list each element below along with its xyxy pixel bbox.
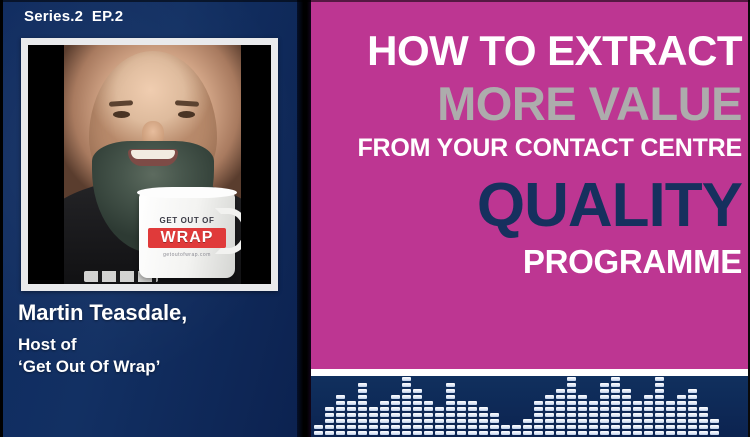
equalizer-segment [446,383,455,387]
equalizer-segment [567,401,576,405]
equalizer-segment [633,401,642,405]
equalizer-segment [369,431,378,435]
equalizer-bar [501,425,510,435]
equalizer-segment [413,407,422,411]
equalizer-bar [710,419,719,435]
equalizer-segment [468,419,477,423]
equalizer-segment [501,431,510,435]
equalizer-segment [380,419,389,423]
equalizer-segment [479,419,488,423]
mug-text-url: getoutofwrap.com [139,252,235,258]
equalizer-segment [402,407,411,411]
equalizer-segment [391,395,400,399]
equalizer-bar [435,407,444,435]
equalizer-segment [600,425,609,429]
equalizer-bar [622,389,631,435]
equalizer-segment [402,431,411,435]
equalizer-segment [655,425,664,429]
equalizer-segment [611,419,620,423]
equalizer-bar [424,401,433,435]
equalizer-segment [358,395,367,399]
equalizer-segment [347,425,356,429]
equalizer-segment [490,413,499,417]
equalizer-segment [534,407,543,411]
equalizer-bar [457,401,466,435]
equalizer-segment [380,413,389,417]
equalizer-segment [578,431,587,435]
equalizer-segment [468,407,477,411]
equalizer-segment [567,377,576,381]
episode-headline: HOW TO EXTRACT MORE VALUE FROM YOUR CONT… [311,0,742,278]
equalizer-segment [413,431,422,435]
equalizer-segment [600,413,609,417]
equalizer-segment [325,413,334,417]
equalizer-segment [578,401,587,405]
equalizer-segment [446,413,455,417]
equalizer-segment [545,413,554,417]
equalizer-segment [391,425,400,429]
equalizer-segment [644,395,653,399]
equalizer-segment [325,419,334,423]
equalizer-segment [314,425,323,429]
equalizer-segment [622,407,631,411]
equalizer-bar [666,401,675,435]
equalizer-segment [314,431,323,435]
equalizer-segment [622,413,631,417]
equalizer-segment [413,395,422,399]
equalizer-bar [325,407,334,435]
equalizer-segment [358,425,367,429]
equalizer-segment [534,401,543,405]
equalizer-segment [666,401,675,405]
right-pink-panel: HOW TO EXTRACT MORE VALUE FROM YOUR CONT… [311,0,750,369]
equalizer-segment [336,395,345,399]
equalizer-segment [611,395,620,399]
guest-teeth [131,150,175,159]
equalizer-segment [347,419,356,423]
equalizer-bar [314,425,323,435]
equalizer-segment [644,413,653,417]
equalizer-segment [391,431,400,435]
equalizer-segment [336,413,345,417]
equalizer-bar [523,419,532,435]
equalizer-segment [556,431,565,435]
equalizer-segment [567,389,576,393]
equalizer-segment [556,389,565,393]
guest-role: Host of [18,334,288,356]
mug-rim [137,187,237,198]
equalizer-segment [380,401,389,405]
equalizer-segment [435,431,444,435]
equalizer-segment [699,407,708,411]
equalizer-segment [655,431,664,435]
equalizer-segment [655,413,664,417]
equalizer-segment [347,401,356,405]
equalizer-segment [556,401,565,405]
equalizer-segment [545,401,554,405]
equalizer-segment [666,425,675,429]
equalizer-bar [336,395,345,435]
equalizer-bar [347,401,356,435]
guest-eyebrow-left [108,100,132,107]
equalizer-segment [413,413,422,417]
equalizer-segment [611,431,620,435]
headline-line-5: PROGRAMME [311,245,742,278]
equalizer-bar [600,383,609,435]
equalizer-segment [402,383,411,387]
guest-caption: Martin Teasdale, Host of ‘Get Out Of Wra… [18,300,288,378]
equalizer-segment [358,383,367,387]
headline-line-2: MORE VALUE [311,80,742,127]
equalizer-segment [325,431,334,435]
equalizer-segment [358,431,367,435]
equalizer-segment [336,431,345,435]
equalizer-segment [424,401,433,405]
equalizer-segment [666,413,675,417]
equalizer-segment [545,419,554,423]
guest-photo-frame: GET OUT OF WRAP getoutofwrap.com [21,38,278,291]
equalizer-segment [457,401,466,405]
equalizer-segment [402,413,411,417]
equalizer-segment [523,419,532,423]
equalizer-segment [490,425,499,429]
equalizer-segment [688,401,697,405]
equalizer-bar [479,407,488,435]
equalizer-segment [380,407,389,411]
equalizer-segment [325,407,334,411]
equalizer-segment [677,413,686,417]
equalizer-segment [501,425,510,429]
equalizer-segment [545,425,554,429]
equalizer-segment [479,431,488,435]
equalizer-segment [545,395,554,399]
equalizer-bar [677,395,686,435]
equalizer-bar [633,401,642,435]
equalizer-segment [600,389,609,393]
equalizer-segment [424,413,433,417]
equalizer-segment [402,419,411,423]
equalizer-segment [699,419,708,423]
equalizer-segment [644,431,653,435]
guest-photo-scene: GET OUT OF WRAP getoutofwrap.com [64,45,241,284]
equalizer-bar [589,401,598,435]
equalizer-segment [655,401,664,405]
equalizer-segment [688,389,697,393]
equalizer-bar [699,407,708,435]
equalizer-segment [413,401,422,405]
equalizer-segment [578,425,587,429]
equalizer-bar [688,389,697,435]
equalizer-bar [391,395,400,435]
equalizer-segment [446,425,455,429]
equalizer-segment [556,413,565,417]
equalizer-bar [545,395,554,435]
equalizer-segment [600,419,609,423]
equalizer-segment [644,401,653,405]
equalizer-segment [567,395,576,399]
equalizer-segment [567,425,576,429]
equalizer-segment [600,407,609,411]
equalizer-segment [611,425,620,429]
equalizer-segment [402,425,411,429]
equalizer-segment [556,395,565,399]
equalizer-segment [644,419,653,423]
equalizer-bar [413,389,422,435]
equalizer-segment [369,419,378,423]
equalizer-segment [688,395,697,399]
equalizer-segment [347,407,356,411]
left-navy-panel: Series.2 EP.2 [0,0,297,437]
equalizer-segment [512,431,521,435]
equalizer-segment [633,419,642,423]
equalizer-segment [622,389,631,393]
podcast-episode-poster: Series.2 EP.2 [0,0,750,437]
equalizer-segment [358,401,367,405]
equalizer-segment [545,431,554,435]
equalizer-segment [578,407,587,411]
equalizer-segment [655,407,664,411]
equalizer-segment [589,431,598,435]
equalizer-segment [336,425,345,429]
equalizer-segment [578,413,587,417]
equalizer-segment [677,395,686,399]
equalizer-segment [688,407,697,411]
equalizer-segment [556,425,565,429]
equalizer-segment [633,413,642,417]
equalizer-segment [413,419,422,423]
equalizer-segment [589,425,598,429]
equalizer-segment [710,425,719,429]
equalizer-segment [589,407,598,411]
guest-eyebrow-right [174,100,198,107]
equalizer-segment [534,413,543,417]
equalizer-segment [402,395,411,399]
equalizer-segment [688,413,697,417]
equalizer-segment [600,395,609,399]
equalizer-segment [435,407,444,411]
equalizer-bar [402,376,411,435]
equalizer-segment [358,407,367,411]
equalizer-segment [424,419,433,423]
equalizer-segment [512,425,521,429]
headline-line-3: FROM YOUR CONTACT CENTRE [311,136,742,161]
equalizer-segment [358,413,367,417]
equalizer-segment [578,395,587,399]
equalizer-bar [655,377,664,435]
guest-photo: GET OUT OF WRAP getoutofwrap.com [28,45,271,284]
equalizer-segment [567,431,576,435]
equalizer-segment [534,431,543,435]
equalizer-segment [600,431,609,435]
equalizer-segment [523,431,532,435]
headline-line-1: HOW TO EXTRACT [311,30,742,72]
equalizer-segment [666,431,675,435]
equalizer-segment [369,413,378,417]
equalizer-segment [402,377,411,381]
equalizer-segment [336,419,345,423]
equalizer-segment [391,407,400,411]
equalizer-segment [567,383,576,387]
equalizer-segment [534,419,543,423]
equalizer-segment [644,407,653,411]
equalizer-bar [567,377,576,435]
equalizer-segment [611,407,620,411]
equalizer-bar [380,401,389,435]
equalizer-segment [589,419,598,423]
equalizer-segment [413,425,422,429]
equalizer-segment [633,425,642,429]
equalizer-segment [358,389,367,393]
equalizer-segment [589,413,598,417]
equalizer-segment [556,419,565,423]
equalizer-segment [611,389,620,393]
equalizer-segment [523,425,532,429]
equalizer-bar [578,395,587,435]
equalizer-segment [446,419,455,423]
equalizer-segment [699,425,708,429]
equalizer-bar [468,401,477,435]
equalizer-segment [633,407,642,411]
audio-equalizer-panel [311,376,750,437]
equalizer-segment [622,425,631,429]
guest-mouth [128,149,178,166]
poster-edge-top [0,0,750,2]
equalizer-segment [424,407,433,411]
equalizer-segment [391,419,400,423]
equalizer-segment [600,383,609,387]
equalizer-segment [688,425,697,429]
equalizer-segment [468,401,477,405]
equalizer-segment [369,407,378,411]
equalizer-segment [710,431,719,435]
equalizer-segment [622,419,631,423]
equalizer-segment [380,425,389,429]
equalizer-segment [457,407,466,411]
equalizer-segment [622,395,631,399]
equalizer-segment [479,425,488,429]
equalizer-bar [369,407,378,435]
equalizer-segment [644,425,653,429]
equalizer-segment [446,407,455,411]
equalizer-segment [391,413,400,417]
equalizer-segment [655,395,664,399]
equalizer-segment [325,425,334,429]
equalizer-segment [446,395,455,399]
equalizer-segment [688,419,697,423]
equalizer-segment [666,407,675,411]
equalizer-segment [336,401,345,405]
equalizer-segment [490,419,499,423]
poster-edge-left [0,0,3,437]
equalizer-segment [611,413,620,417]
equalizer-segment [468,431,477,435]
equalizer-segment [457,425,466,429]
equalizer-segment [347,413,356,417]
equalizer-segment [677,401,686,405]
equalizer-bar [490,413,499,435]
equalizer-segment [677,431,686,435]
equalizer-segment [380,431,389,435]
equalizer-segment [666,419,675,423]
equalizer-segment [468,413,477,417]
branded-mug: GET OUT OF WRAP getoutofwrap.com [139,192,235,278]
equalizer-segment [490,431,499,435]
equalizer-segment [677,425,686,429]
equalizer-segment [622,401,631,405]
equalizer-segment [435,419,444,423]
equalizer-bar [446,383,455,435]
equalizer-segment [677,419,686,423]
equalizer-segment [556,407,565,411]
equalizer-segment [567,419,576,423]
equalizer-segment [655,419,664,423]
equalizer-segment [479,413,488,417]
panel-divider [297,0,311,437]
equalizer-segment [589,401,598,405]
equalizer-segment [424,425,433,429]
equalizer-segment [457,431,466,435]
equalizer-segment [710,419,719,423]
equalizer-segment [611,377,620,381]
equalizer-bar [556,389,565,435]
guest-show-title: ‘Get Out Of Wrap’ [18,356,288,378]
equalizer-bar [611,376,620,435]
equalizer-segment [347,431,356,435]
equalizer-segment [468,425,477,429]
equalizer-segment [358,419,367,423]
equalizer-bars [314,378,750,435]
mug-text-top: GET OUT OF [139,216,235,225]
equalizer-bar [644,395,653,435]
equalizer-segment [611,383,620,387]
equalizer-segment [622,431,631,435]
equalizer-segment [435,413,444,417]
equalizer-segment [391,401,400,405]
headline-line-4: QUALITY [311,175,742,237]
equalizer-segment [402,401,411,405]
white-separator-strip [311,369,750,376]
equalizer-segment [655,389,664,393]
equalizer-segment [633,431,642,435]
equalizer-segment [424,431,433,435]
equalizer-bar [512,425,521,435]
equalizer-segment [457,413,466,417]
equalizer-segment [446,401,455,405]
equalizer-segment [688,431,697,435]
equalizer-bar [358,383,367,435]
equalizer-segment [402,389,411,393]
equalizer-segment [655,377,664,381]
equalizer-segment [446,431,455,435]
equalizer-segment [336,407,345,411]
equalizer-segment [600,401,609,405]
guest-eye-right [178,111,195,118]
guest-eye-left [113,111,130,118]
equalizer-segment [699,431,708,435]
guest-name: Martin Teasdale, [18,300,288,326]
equalizer-segment [534,425,543,429]
equalizer-segment [578,419,587,423]
equalizer-segment [457,419,466,423]
equalizer-bar [534,401,543,435]
equalizer-segment [677,407,686,411]
equalizer-segment [611,401,620,405]
equalizer-segment [545,407,554,411]
mug-text-banner: WRAP [148,228,226,248]
equalizer-segment [413,389,422,393]
equalizer-segment [699,413,708,417]
equalizer-segment [655,383,664,387]
